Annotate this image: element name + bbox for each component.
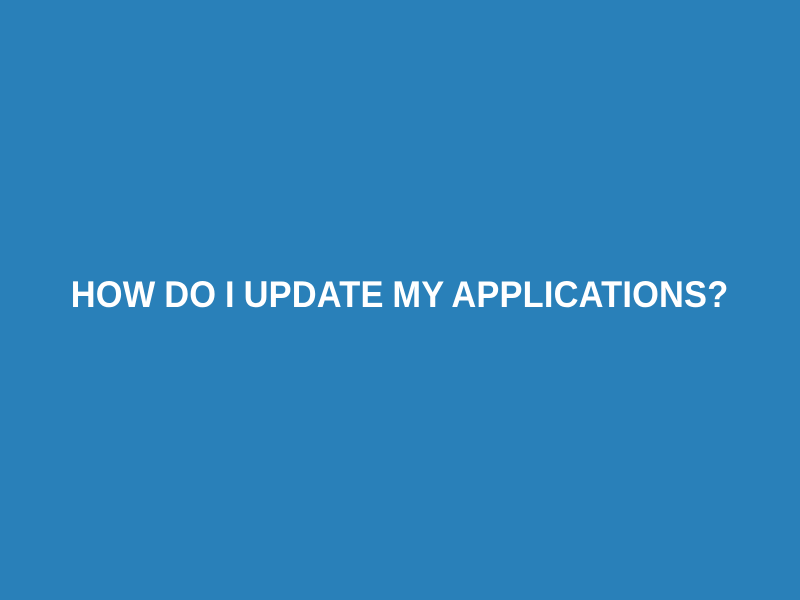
page-title: HOW DO I UPDATE MY APPLICATIONS? (0, 275, 800, 316)
headline-container: HOW DO I UPDATE MY APPLICATIONS? (0, 0, 800, 600)
page-title-text: HOW DO I UPDATE MY APPLICATIONS? (71, 275, 729, 316)
banner-background: HOW DO I UPDATE MY APPLICATIONS? (0, 0, 800, 600)
